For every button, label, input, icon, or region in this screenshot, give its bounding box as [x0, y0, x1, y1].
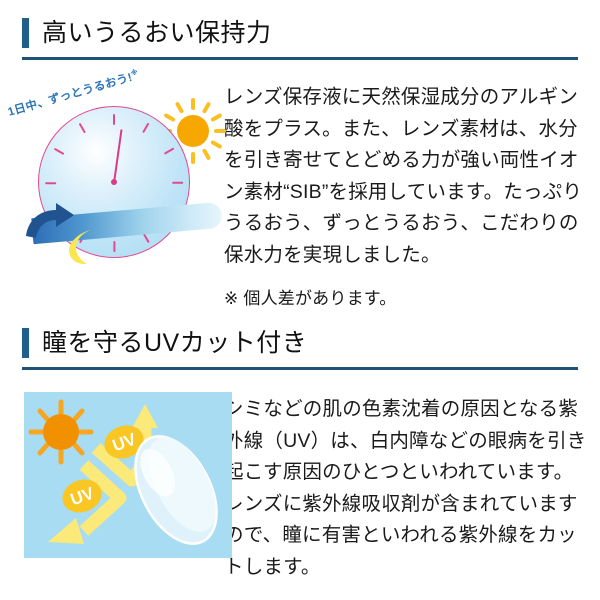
heading-row: 高いうるおい保持力 [22, 12, 600, 54]
heading-row: 瞳を守るUVカット付き [22, 322, 600, 364]
figure-column-moisture: 1日中、ずっとうるおう!※ [0, 80, 224, 295]
figure-caption-mark: ※ [130, 69, 139, 78]
section-paragraph: シミなどの肌の色素沈着の原因となる紫外線（UV）は、白内障などの眼病を引き起こす… [224, 394, 588, 583]
section-heading-uv-cut: 瞳を守るUVカット付き [0, 322, 600, 370]
product-feature-page: 高いうるおい保持力 [0, 0, 600, 600]
clock-globe-illustration: 1日中、ずっとうるおう!※ [0, 80, 224, 295]
clock-hub [111, 179, 117, 185]
section-uv-cut: 瞳を守るUVカット付き [0, 322, 600, 583]
moon-icon [60, 226, 102, 268]
section-note: ※ 個人差があります。 [224, 285, 588, 312]
section-body-moisture: 1日中、ずっとうるおう!※ レンズ保存液に天然保湿成分のアルギン酸をプラス。また… [0, 80, 600, 313]
section-body-uv-cut: UV UV [0, 392, 600, 583]
text-column-uv: シミなどの肌の色素沈着の原因となる紫外線（UV）は、白内障などの眼病を引き起こす… [224, 392, 600, 583]
section-paragraph: レンズ保存液に天然保湿成分のアルギン酸をプラス。また、レンズ素材は、水分を引き寄… [224, 82, 588, 271]
clock-hand [113, 129, 122, 183]
section-moisture: 高いうるおい保持力 [0, 12, 600, 313]
sun-disc [43, 414, 79, 450]
heading-divider-rule [22, 57, 578, 60]
section-title: 高いうるおい保持力 [42, 21, 272, 46]
text-column-moisture: レンズ保存液に天然保湿成分のアルギン酸をプラス。また、レンズ素材は、水分を引き寄… [224, 80, 600, 313]
heading-accent-bar [22, 328, 29, 358]
uv-block-illustration: UV UV [24, 392, 232, 558]
section-heading-moisture: 高いうるおい保持力 [0, 12, 600, 60]
heading-accent-bar [22, 18, 29, 48]
ribbon-arrow [22, 202, 222, 240]
figure-column-uv: UV UV [0, 392, 224, 562]
section-title: 瞳を守るUVカット付き [42, 331, 307, 356]
heading-divider-rule [22, 367, 578, 370]
